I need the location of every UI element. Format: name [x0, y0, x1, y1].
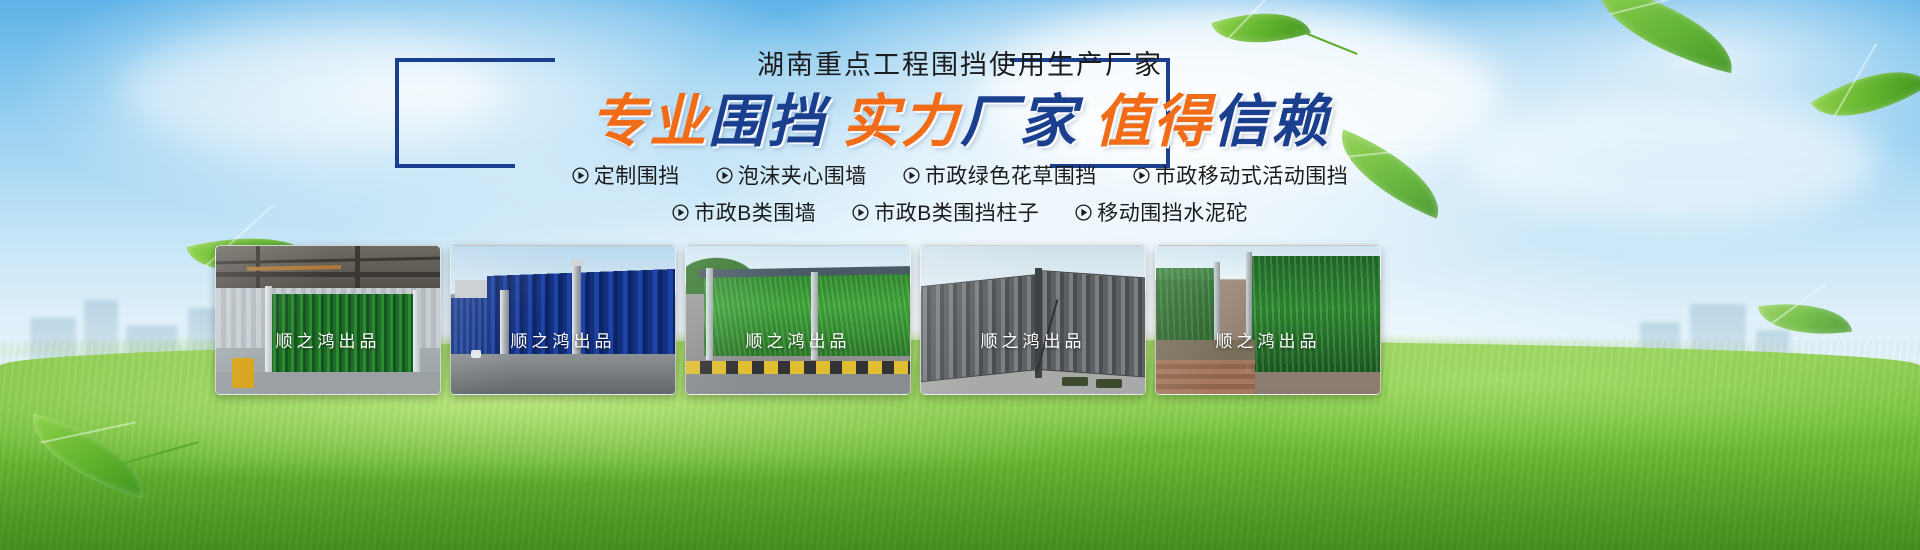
main-headline: 专业围挡实力厂家值得信赖 [0, 79, 1920, 155]
play-circle-icon [1133, 167, 1150, 184]
product-photo-4[interactable]: 顺之鸿出品 [920, 245, 1146, 395]
product-photo-1[interactable]: 顺之鸿出品 [215, 245, 441, 395]
feature-item-2[interactable]: 泡沫夹心围墙 [716, 160, 867, 190]
promo-banner: 湖南重点工程围挡使用生产厂家 专业围挡实力厂家值得信赖 定制围挡 泡沫夹心围墙 [0, 0, 1920, 550]
sub-headline: 湖南重点工程围挡使用生产厂家 [0, 44, 1920, 79]
headline-part-4: 厂家 [960, 90, 1078, 154]
feature-label: 定制围挡 [594, 160, 680, 190]
headline-part-1: 专业 [590, 90, 708, 154]
feature-label: 市政移动式活动围挡 [1155, 160, 1349, 190]
headline-part-2: 围挡 [708, 90, 826, 154]
product-photo-2[interactable]: 顺之鸿出品 [450, 245, 676, 395]
feature-list: 定制围挡 泡沫夹心围墙 市政绿色花草围挡 市政移动式活动围挡 [0, 160, 1920, 234]
feature-item-3[interactable]: 市政绿色花草围挡 [903, 160, 1097, 190]
feature-item-7[interactable]: 移动围挡水泥砣 [1075, 197, 1248, 227]
headline-block: 湖南重点工程围挡使用生产厂家 专业围挡实力厂家值得信赖 [0, 44, 1920, 155]
feature-label: 市政绿色花草围挡 [925, 160, 1097, 190]
feature-label: 市政B类围墙 [694, 197, 816, 227]
play-circle-icon [572, 167, 589, 184]
feature-item-6[interactable]: 市政B类围挡柱子 [852, 197, 1039, 227]
headline-part-6: 信赖 [1212, 90, 1330, 154]
product-photo-strip: 顺之鸿出品 顺之鸿出品 顺之鸿出品 [215, 245, 1705, 393]
play-circle-icon [903, 167, 920, 184]
product-photo-3[interactable]: 顺之鸿出品 [685, 245, 911, 395]
feature-label: 市政B类围挡柱子 [874, 197, 1039, 227]
grass-shadow [0, 460, 1920, 550]
feature-label: 泡沫夹心围墙 [738, 160, 867, 190]
feature-row-1: 定制围挡 泡沫夹心围墙 市政绿色花草围挡 市政移动式活动围挡 [0, 160, 1920, 190]
feature-label: 移动围挡水泥砣 [1097, 197, 1248, 227]
play-circle-icon [716, 167, 733, 184]
product-photo-5[interactable]: 顺之鸿出品 [1155, 245, 1381, 395]
play-circle-icon [852, 204, 869, 221]
play-circle-icon [1075, 204, 1092, 221]
feature-item-1[interactable]: 定制围挡 [572, 160, 680, 190]
play-circle-icon [672, 204, 689, 221]
feature-row-2: 市政B类围墙 市政B类围挡柱子 移动围挡水泥砣 [0, 197, 1920, 227]
headline-part-5: 值得 [1094, 90, 1212, 154]
headline-part-3: 实力 [842, 90, 960, 154]
feature-item-4[interactable]: 市政移动式活动围挡 [1133, 160, 1349, 190]
feature-item-5[interactable]: 市政B类围墙 [672, 197, 816, 227]
